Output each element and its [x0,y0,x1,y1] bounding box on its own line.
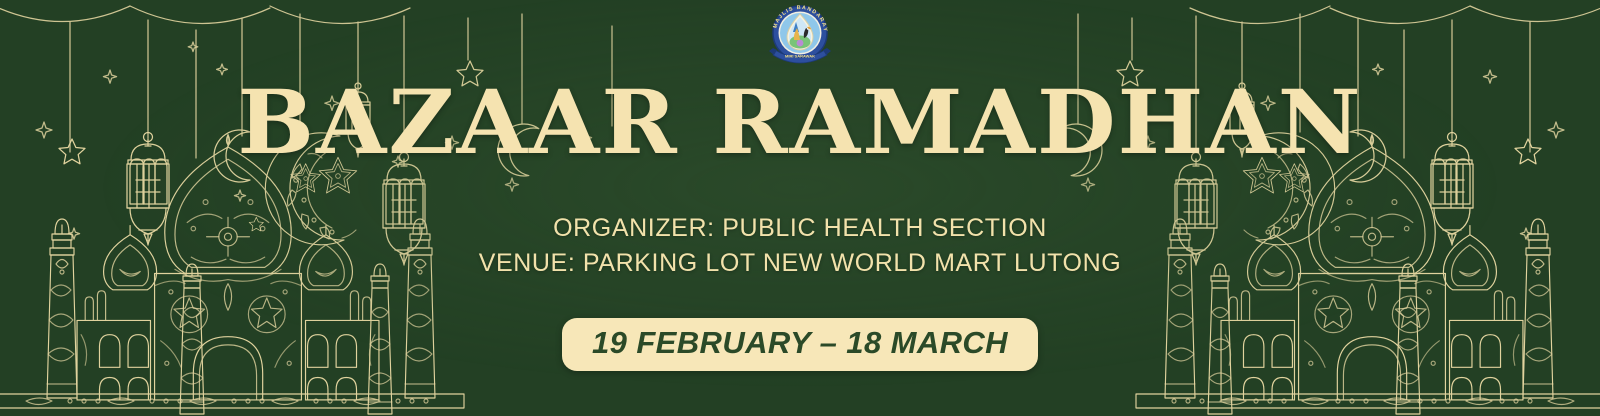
date-badge: 19 FEBRUARY – 18 MARCH [562,318,1038,371]
ramadan-bazaar-banner: MAJLIS BANDARAYA MIRI SARAWAK BAZAAR RAM… [0,0,1600,416]
council-crest-logo: MAJLIS BANDARAYA MIRI SARAWAK [766,4,834,68]
banner-title: BAZAAR RAMADHAN [0,78,1600,166]
venue-line: VENUE: PARKING LOT NEW WORLD MART LUTONG [0,246,1600,281]
date-badge-container: 19 FEBRUARY – 18 MARCH [0,318,1600,371]
organizer-line: ORGANIZER: PUBLIC HEALTH SECTION [0,211,1600,246]
banner-subtitle: ORGANIZER: PUBLIC HEALTH SECTION VENUE: … [0,211,1600,280]
svg-text:MIRI SARAWAK: MIRI SARAWAK [785,53,815,58]
